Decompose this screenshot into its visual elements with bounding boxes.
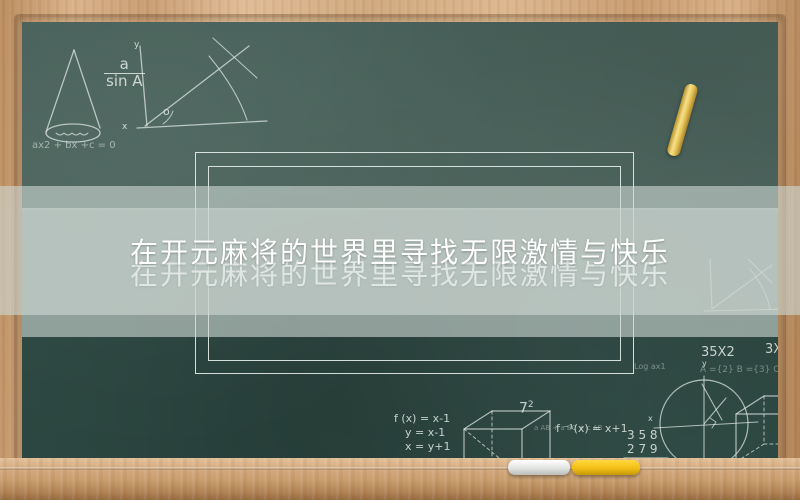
circle-axes-drawing (646, 362, 776, 462)
power-seven: 72 (519, 400, 534, 417)
yellow-chalk-on-ledge (572, 460, 640, 475)
inverse-function: f ⁻¹(x) = x+1 (556, 422, 628, 435)
log-small-note: Log ax1 (634, 362, 666, 371)
label-3x2: 3X2 (765, 342, 778, 357)
page-title-fullbleed: 在开元麻将的世界里寻找无限激情与快乐 (0, 231, 800, 271)
addition-row-1: 3 5 8 (627, 428, 658, 442)
white-chalk-on-ledge (508, 460, 570, 475)
chalk-ledge (0, 458, 800, 500)
banner-overlay-fullbleed: 在开元麻将的世界里寻找无限激情与快乐 (0, 186, 800, 315)
cube-drawing-right (732, 390, 778, 462)
set-symbol-row: A ={2} B ={3} C ={4} (700, 365, 778, 375)
addition-row-2: 2 7 9 (627, 442, 658, 456)
blackboard-scene: a sin A ax2 + bx +c = 0 y x o f (x) = x-… (0, 0, 800, 500)
label-35x2: 35X2 (701, 345, 735, 360)
law-of-sines-denominator: sin A (104, 74, 145, 90)
axis-label-x-topleft: x (122, 122, 127, 132)
axis-label-y-topleft: y (134, 40, 139, 50)
power-seven-base: 7 (519, 401, 528, 417)
power-seven-exponent: 2 (528, 400, 534, 410)
yellow-chalk-stick-top (666, 83, 699, 158)
function-line-2: y = x-1 (405, 426, 445, 439)
function-line-1: f (x) = x-1 (394, 412, 450, 425)
axis-label-x-right: x (648, 414, 653, 423)
function-line-3: x = y+1 (405, 440, 450, 453)
chalk-ledge-lip (0, 467, 800, 470)
law-of-sines-formula: a sin A (104, 57, 145, 90)
quadratic-equation: ax2 + bx +c = 0 (32, 140, 116, 151)
axis-label-y-right: y (702, 359, 707, 368)
angle-axes-drawing (117, 36, 297, 156)
angle-label-o: o (163, 105, 170, 118)
